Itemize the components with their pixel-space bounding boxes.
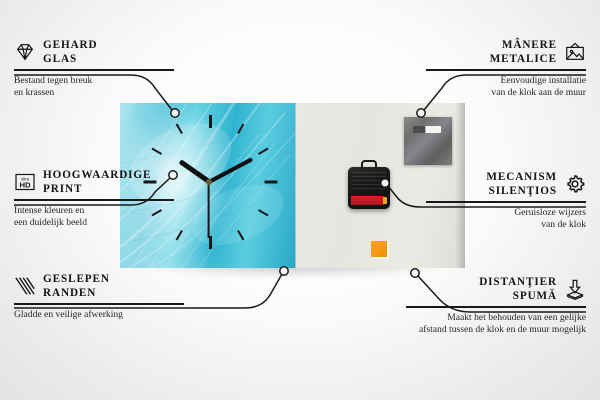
battery — [351, 196, 384, 205]
desc-line2: en krassen — [14, 87, 54, 98]
callout-rule — [14, 199, 174, 201]
callout-title-text: GESLEPEN RANDEN — [43, 272, 110, 300]
callout-title: ultra HD HOOGWAARDIGE PRINT — [14, 168, 174, 196]
callout-rule — [14, 303, 184, 305]
callout-rule — [14, 69, 174, 71]
ultra-hd-icon: ultra HD — [14, 171, 36, 193]
down-arrow-pad-icon — [564, 278, 586, 300]
callout-geslepen-randen: GESLEPEN RANDEN Gladde en veilige afwerk… — [14, 272, 184, 321]
title-line1: DISTANŢIER — [479, 276, 557, 288]
callout-rule — [426, 69, 586, 71]
title-line2: METALICE — [490, 53, 557, 65]
clock-tick — [176, 230, 183, 241]
callout-description: Gladde en veilige afwerking — [14, 309, 184, 321]
callout-title-text: DISTANŢIER SPUMĂ — [479, 275, 557, 303]
clock-tick — [209, 115, 212, 128]
clock-center-pin — [206, 179, 212, 185]
picture-frame-icon — [564, 41, 586, 63]
title-line2: RANDEN — [43, 287, 96, 299]
clock-second-hand — [208, 182, 210, 238]
title-line2: PRINT — [43, 183, 82, 195]
clock-tick — [151, 148, 162, 155]
foam-spacer — [371, 241, 387, 257]
desc-line1: Eenvoudige installatie — [500, 75, 586, 86]
callout-title-text: HOOGWAARDIGE PRINT — [43, 168, 151, 196]
callout-title: MÂNERE METALICE — [426, 38, 586, 66]
quartz-mechanism-box — [348, 167, 390, 209]
title-line2: SILENŢIOS — [489, 185, 557, 197]
callout-description: Bestand tegen breuk en krassen — [14, 75, 174, 100]
desc-line2: een duidelijk beeld — [14, 217, 87, 228]
callout-rule — [426, 201, 586, 203]
callout-title: MECANISM SILENŢIOS — [426, 170, 586, 198]
svg-text:HD: HD — [19, 181, 31, 190]
mechanism-grill — [352, 172, 386, 192]
mechanism-hook — [361, 160, 377, 169]
title-line1: MECANISM — [486, 171, 557, 183]
clock-tick — [176, 123, 183, 134]
desc-line1: Geruisloze wijzers — [514, 207, 586, 218]
title-line1: HOOGWAARDIGE — [43, 169, 151, 181]
clock-tick — [258, 148, 269, 155]
callout-description: Eenvoudige installatie van de klok aan d… — [426, 75, 586, 100]
gear-icon — [564, 173, 586, 195]
callout-manere-metalice: MÂNERE METALICE Eenvoudige installatie v… — [426, 38, 586, 99]
callout-title-text: MECANISM SILENŢIOS — [486, 170, 557, 198]
clock-tick — [237, 123, 244, 134]
title-line1: MÂNERE — [502, 39, 557, 51]
metal-hanger-plate — [404, 117, 452, 165]
callout-distantier-spuma: DISTANŢIER SPUMĂ Maakt het behouden van … — [406, 275, 586, 336]
desc-line1: Intense kleuren en — [14, 205, 84, 216]
callout-title-text: GEHARD GLAS — [43, 38, 98, 66]
callout-gehard-glas: GEHARD GLAS Bestand tegen breuk en krass… — [14, 38, 174, 99]
callout-rule — [406, 306, 586, 308]
desc-line1: Maakt het behouden van een gelijke — [447, 312, 586, 323]
callout-description: Maakt het behouden van een gelijke afsta… — [406, 312, 586, 337]
callout-title-text: MÂNERE METALICE — [490, 38, 557, 66]
clock-tick — [265, 181, 278, 184]
desc-line2: van de klok aan de muur — [491, 87, 586, 98]
desc-line1: Bestand tegen breuk — [14, 75, 92, 86]
title-line2: SPUMĂ — [513, 290, 557, 302]
callout-mecanism-silentios: MECANISM SILENŢIOS Geruisloze wijzers va… — [426, 170, 586, 231]
diamond-icon — [14, 41, 36, 63]
desc-line2: afstand tussen de klok en de muur mogeli… — [419, 324, 586, 335]
callout-description: Intense kleuren en een duidelijk beeld — [14, 205, 174, 230]
desc-line2: van de klok — [541, 219, 586, 230]
title-line1: GESLEPEN — [43, 273, 110, 285]
bevel-lines-icon — [14, 275, 36, 297]
callout-description: Geruisloze wijzers van de klok — [426, 207, 586, 232]
callout-title: GEHARD GLAS — [14, 38, 174, 66]
hanger-keyhole-slot — [413, 126, 441, 133]
title-line1: GEHARD — [43, 39, 98, 51]
callout-title: GESLEPEN RANDEN — [14, 272, 184, 300]
clock-tick — [258, 209, 269, 216]
clock-tick — [237, 230, 244, 241]
callout-title: DISTANŢIER SPUMĂ — [406, 275, 586, 303]
callout-hoogwaardige-print: ultra HD HOOGWAARDIGE PRINT Intense kleu… — [14, 168, 174, 229]
title-line2: GLAS — [43, 53, 77, 65]
desc-line1: Gladde en veilige afwerking — [14, 309, 123, 320]
infographic-stage: GEHARD GLAS Bestand tegen breuk en krass… — [0, 0, 600, 400]
clock-minute-hand — [208, 157, 253, 184]
